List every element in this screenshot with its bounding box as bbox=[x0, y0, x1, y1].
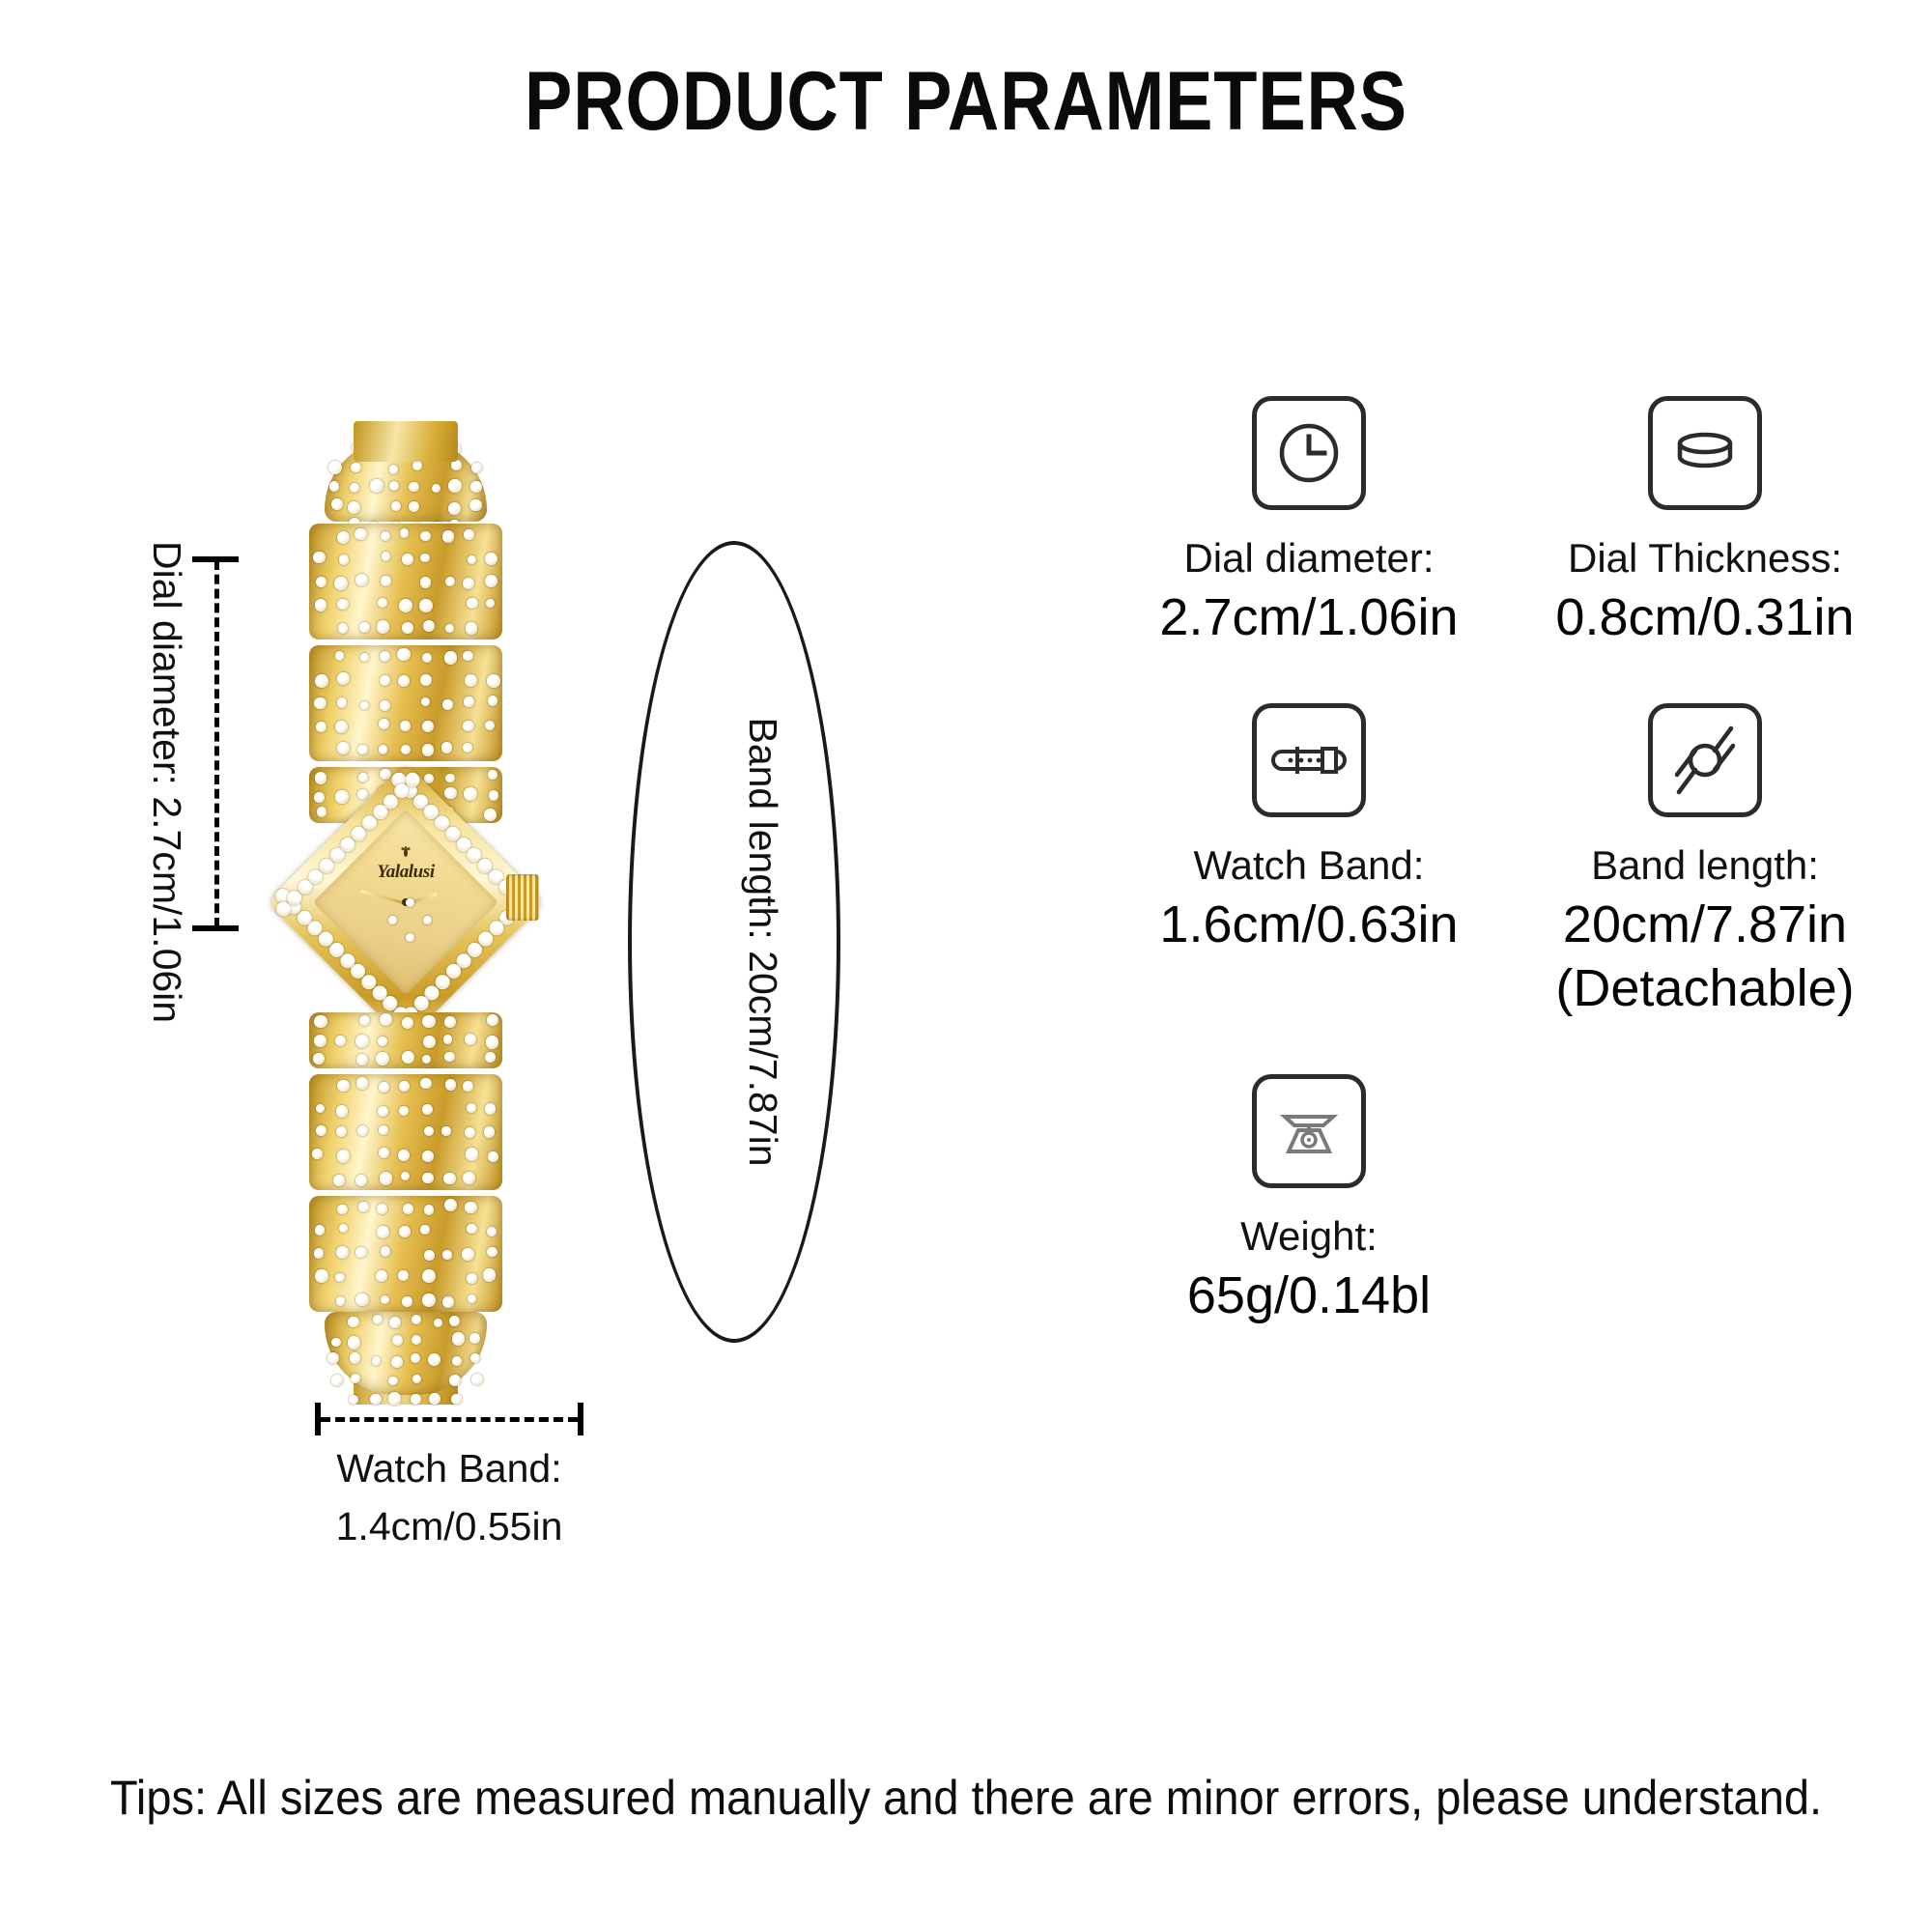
gemstone bbox=[411, 1353, 420, 1363]
gemstone bbox=[467, 1273, 477, 1284]
tips-text: Tips: All sizes are measured manually an… bbox=[58, 1770, 1874, 1826]
gemstone bbox=[327, 1352, 339, 1364]
watch-strap-buckle-icon bbox=[1252, 703, 1366, 817]
gemstone bbox=[465, 674, 477, 687]
gemstone bbox=[315, 1269, 328, 1283]
gemstone bbox=[422, 721, 434, 732]
gemstone bbox=[470, 1353, 480, 1363]
gemstone bbox=[463, 1081, 472, 1091]
gemstone bbox=[355, 574, 368, 586]
gemstone bbox=[444, 1199, 457, 1211]
gemstone bbox=[401, 1172, 410, 1180]
gemstone bbox=[422, 1055, 431, 1064]
gemstone bbox=[468, 1294, 476, 1303]
gemstone bbox=[448, 502, 461, 515]
gemstone bbox=[469, 499, 482, 512]
gemstone bbox=[399, 599, 412, 612]
band-length-annotation-label: Band length: bbox=[741, 717, 785, 939]
dial-diameter-annotation-value: 2.7cm/1.06in bbox=[145, 796, 189, 1023]
gemstone bbox=[420, 1225, 430, 1235]
gemstone bbox=[337, 742, 350, 754]
band-length-annotation: Band length: 20cm/7.87in bbox=[628, 541, 840, 1343]
gemstone bbox=[336, 1126, 348, 1138]
gemstone bbox=[360, 701, 369, 710]
gemstone bbox=[355, 1247, 367, 1259]
gemstone bbox=[315, 772, 327, 784]
gemstone bbox=[400, 721, 411, 731]
gemstone bbox=[312, 1149, 323, 1159]
gemstone bbox=[465, 1034, 476, 1045]
gemstone bbox=[423, 1036, 436, 1048]
spec-note: (Detachable) bbox=[1507, 956, 1903, 1020]
gemstone bbox=[422, 744, 434, 755]
gemstone bbox=[337, 599, 348, 610]
gemstone bbox=[469, 1333, 480, 1344]
gemstone bbox=[337, 1205, 348, 1215]
gemstone bbox=[337, 531, 350, 544]
gemstone bbox=[471, 1374, 483, 1385]
gemstone bbox=[357, 789, 368, 800]
gemstone bbox=[484, 809, 497, 821]
dial-diameter-annotation-label: Dial diameter: bbox=[145, 541, 189, 785]
gemstone bbox=[379, 1082, 389, 1093]
spec-value: 65g/0.14bl bbox=[1111, 1264, 1507, 1327]
gemstone bbox=[376, 1270, 387, 1282]
gemstone bbox=[399, 1226, 411, 1237]
gemstone bbox=[380, 651, 390, 662]
watch-dial: Yalalusi bbox=[313, 810, 498, 995]
gemstone bbox=[358, 773, 369, 783]
gemstone bbox=[380, 1172, 392, 1184]
gemstone bbox=[412, 1375, 422, 1384]
weighing-scale-icon bbox=[1252, 1074, 1366, 1188]
gemstone bbox=[389, 481, 399, 491]
gemstone bbox=[355, 528, 367, 541]
gemstone bbox=[328, 461, 342, 474]
gemstone bbox=[350, 483, 359, 493]
gemstone bbox=[442, 1296, 454, 1308]
gemstone bbox=[334, 577, 348, 590]
gemstone bbox=[484, 1126, 496, 1138]
gemstone bbox=[337, 672, 350, 685]
gemstone bbox=[372, 1356, 382, 1366]
gemstone bbox=[443, 1173, 455, 1184]
band-segment bbox=[309, 645, 502, 761]
gemstone bbox=[389, 1317, 401, 1328]
gemstone bbox=[424, 1205, 434, 1214]
band-segment bbox=[309, 1012, 502, 1068]
gemstone bbox=[487, 674, 499, 687]
gemstone bbox=[398, 1270, 409, 1281]
gemstone bbox=[402, 622, 414, 635]
gemstone bbox=[467, 1224, 477, 1235]
gemstone bbox=[337, 1080, 349, 1092]
gemstone bbox=[464, 529, 474, 540]
gemstone bbox=[316, 1125, 327, 1136]
gemstone bbox=[420, 531, 430, 541]
band-segment bbox=[309, 524, 502, 639]
gemstone bbox=[339, 1224, 348, 1233]
gemstone bbox=[471, 463, 482, 473]
gemstone bbox=[359, 622, 370, 633]
gemstone bbox=[409, 501, 419, 512]
gemstone bbox=[401, 745, 411, 754]
gemstone bbox=[449, 1316, 460, 1326]
spec-row: Watch Band: 1.6cm/0.63in Band length: 20… bbox=[1111, 703, 1903, 1074]
gemstone bbox=[391, 1356, 403, 1368]
gemstone bbox=[348, 1336, 361, 1350]
gemstone bbox=[357, 1125, 368, 1136]
gemstone bbox=[392, 1335, 403, 1346]
gemstone bbox=[445, 577, 455, 586]
gemstone bbox=[470, 481, 482, 493]
gemstone bbox=[441, 1126, 450, 1135]
spec-item-watch-band: Watch Band: 1.6cm/0.63in bbox=[1111, 703, 1507, 1074]
gemstone bbox=[355, 1175, 367, 1186]
gemstone bbox=[314, 697, 326, 709]
clock-icon bbox=[1252, 396, 1366, 510]
gemstone bbox=[466, 622, 478, 635]
page-title: PRODUCT PARAMETERS bbox=[135, 54, 1797, 150]
gemstone bbox=[488, 770, 497, 779]
band-lug-top bbox=[354, 421, 458, 462]
gemstone bbox=[316, 577, 327, 587]
gemstone bbox=[338, 623, 349, 634]
gemstone bbox=[444, 651, 458, 665]
spec-cell-empty bbox=[1507, 1074, 1903, 1381]
gemstone bbox=[412, 1335, 422, 1346]
gemstone bbox=[468, 555, 476, 564]
gemstone bbox=[463, 1172, 476, 1185]
spec-item-dial-thickness: Dial Thickness: 0.8cm/0.31in bbox=[1507, 396, 1903, 703]
gemstone bbox=[356, 1054, 368, 1065]
gemstone bbox=[485, 721, 495, 730]
gemstone bbox=[485, 575, 497, 587]
gemstone bbox=[399, 1106, 409, 1116]
dimension-cap-right bbox=[578, 1403, 583, 1435]
band-segment bbox=[309, 1196, 502, 1312]
watch-band-annotation-label: Watch Band: bbox=[290, 1439, 609, 1497]
dimension-line-vertical bbox=[214, 560, 219, 927]
band-segment bbox=[309, 1074, 502, 1190]
band-segment-bottom-cap bbox=[325, 1312, 487, 1395]
gemstone bbox=[359, 1015, 370, 1026]
gemstone bbox=[412, 1315, 421, 1324]
gemstone bbox=[376, 1052, 389, 1065]
gemstone bbox=[381, 1246, 390, 1256]
gemstone bbox=[422, 1151, 434, 1162]
gemstone bbox=[412, 461, 422, 470]
gemstone bbox=[486, 599, 495, 608]
gemstone bbox=[391, 501, 401, 511]
gemstone bbox=[442, 1250, 451, 1259]
gemstone bbox=[351, 1374, 360, 1383]
gemstone bbox=[424, 1126, 434, 1136]
gemstone bbox=[422, 1104, 433, 1115]
gemstone bbox=[337, 697, 347, 707]
gemstone bbox=[485, 553, 497, 565]
gemstone bbox=[448, 479, 462, 493]
gemstone bbox=[443, 1035, 452, 1043]
gemstone bbox=[445, 1079, 457, 1091]
gemstone bbox=[428, 1353, 440, 1366]
gemstone bbox=[316, 722, 327, 732]
gemstone bbox=[399, 1081, 410, 1092]
gemstone bbox=[424, 1250, 434, 1260]
gemstone bbox=[335, 1273, 344, 1282]
gemstone bbox=[314, 1035, 327, 1047]
dimension-cap-bottom bbox=[192, 925, 239, 931]
gemstone bbox=[379, 719, 388, 728]
gemstone bbox=[483, 1268, 497, 1282]
gemstone bbox=[442, 699, 453, 710]
gemstone bbox=[467, 1103, 476, 1113]
gemstone bbox=[444, 1052, 455, 1063]
gemstone bbox=[420, 674, 432, 686]
gemstone bbox=[388, 1377, 398, 1386]
gemstone bbox=[445, 774, 454, 782]
gemstone bbox=[485, 1103, 497, 1115]
gemstone bbox=[329, 481, 339, 491]
gemstone bbox=[487, 1227, 497, 1237]
gemstone bbox=[380, 1013, 392, 1026]
dial-index-gemstone bbox=[406, 898, 414, 907]
gemstone bbox=[315, 599, 327, 611]
gemstone bbox=[378, 598, 387, 608]
gemstone bbox=[419, 599, 433, 612]
gemstone bbox=[420, 1078, 431, 1089]
gemstone bbox=[463, 578, 474, 589]
gemstone bbox=[464, 696, 473, 706]
gemstone bbox=[331, 1375, 343, 1386]
spec-label: Dial Thickness: bbox=[1507, 531, 1903, 585]
minute-hand bbox=[360, 890, 406, 905]
gemstone bbox=[336, 1246, 349, 1259]
gemstone bbox=[444, 1016, 456, 1028]
brand-logo-text: Yalalusi bbox=[340, 862, 471, 883]
gemstone bbox=[336, 1105, 349, 1118]
gemstone bbox=[316, 1104, 325, 1113]
gemstone bbox=[442, 530, 454, 542]
gemstone bbox=[377, 620, 390, 634]
gemstone bbox=[420, 554, 430, 563]
gemstone bbox=[452, 1332, 466, 1346]
spec-label: Watch Band: bbox=[1111, 838, 1507, 893]
gemstone bbox=[432, 484, 440, 493]
gemstone bbox=[331, 1338, 340, 1347]
gemstone bbox=[398, 675, 410, 687]
spec-value: 20cm/7.87in bbox=[1507, 893, 1903, 956]
gemstone bbox=[486, 1036, 498, 1048]
gemstone bbox=[485, 1052, 496, 1063]
spec-grid: Dial diameter: 2.7cm/1.06in Dial Thickne… bbox=[1111, 396, 1903, 1381]
gemstone bbox=[463, 651, 473, 662]
gemstone bbox=[463, 743, 472, 753]
gemstone bbox=[381, 531, 390, 541]
gemstone bbox=[420, 577, 432, 588]
spec-label: Weight: bbox=[1111, 1209, 1507, 1264]
gemstone bbox=[370, 479, 384, 493]
gemstone bbox=[336, 1296, 345, 1305]
gemstone bbox=[377, 1204, 387, 1214]
gemstone bbox=[400, 528, 410, 538]
gemstone bbox=[422, 1015, 436, 1029]
gemstone bbox=[402, 1051, 414, 1064]
gemstone bbox=[449, 1375, 462, 1387]
gemstone bbox=[313, 552, 325, 563]
gemstone bbox=[397, 648, 410, 661]
gemstone bbox=[351, 463, 361, 473]
gemstone bbox=[348, 501, 360, 514]
gemstone bbox=[402, 1296, 412, 1307]
gemstone bbox=[402, 1017, 413, 1029]
gemstone bbox=[465, 1202, 477, 1214]
gemstone bbox=[313, 1053, 325, 1065]
gemstone bbox=[373, 1315, 383, 1324]
gemstone bbox=[381, 1295, 390, 1305]
dial-index-gemstone bbox=[388, 916, 397, 924]
dial-face-inner: Yalalusi bbox=[340, 837, 471, 968]
gemstone bbox=[314, 1015, 327, 1029]
gemstone bbox=[380, 700, 390, 711]
gemstone bbox=[314, 1248, 325, 1259]
gemstone bbox=[434, 1319, 442, 1327]
gemstone bbox=[441, 742, 453, 753]
spec-item-weight: Weight: 65g/0.14bl bbox=[1111, 1074, 1507, 1381]
watch-band-annotation-value: 1.4cm/0.55in bbox=[290, 1497, 609, 1555]
gemstone bbox=[377, 1226, 389, 1238]
gemstone bbox=[487, 1247, 497, 1257]
dimension-line-horizontal bbox=[290, 1401, 609, 1439]
spec-value: 2.7cm/1.06in bbox=[1111, 585, 1507, 649]
dial-index-gemstone bbox=[423, 916, 432, 924]
gemstone bbox=[339, 554, 349, 564]
gemstone bbox=[335, 790, 348, 803]
dial-diameter-annotation-text: Dial diameter: 2.7cm/1.06in bbox=[71, 541, 197, 947]
gemstone bbox=[487, 1014, 498, 1026]
gemstone bbox=[422, 1173, 434, 1184]
gemstone bbox=[421, 697, 430, 706]
dimension-dashes bbox=[321, 1417, 578, 1422]
gemstone bbox=[379, 1148, 389, 1158]
disc-thickness-icon bbox=[1648, 396, 1762, 510]
gemstone bbox=[314, 792, 325, 803]
gemstone bbox=[445, 624, 454, 633]
gemstone bbox=[358, 1202, 369, 1212]
gemstone bbox=[379, 1125, 387, 1134]
gemstone bbox=[465, 1127, 475, 1138]
gemstone bbox=[488, 696, 497, 705]
band-length-icon bbox=[1648, 703, 1762, 817]
gemstone bbox=[467, 598, 478, 610]
gemstone bbox=[463, 721, 474, 732]
gemstone bbox=[389, 465, 399, 474]
gemstone bbox=[337, 1150, 351, 1163]
gemstone bbox=[422, 653, 432, 663]
watch-crown bbox=[506, 874, 539, 921]
gemstone bbox=[360, 653, 369, 662]
bee-icon bbox=[398, 844, 413, 860]
spec-label: Dial diameter: bbox=[1111, 531, 1507, 585]
dial-index-gemstone bbox=[406, 933, 414, 942]
spec-label: Band length: bbox=[1507, 838, 1903, 893]
spec-row: Dial diameter: 2.7cm/1.06in Dial Thickne… bbox=[1111, 396, 1903, 703]
spec-item-dial-diameter: Dial diameter: 2.7cm/1.06in bbox=[1111, 396, 1507, 703]
gemstone bbox=[403, 1204, 413, 1214]
gemstone bbox=[350, 1352, 360, 1363]
gemstone bbox=[452, 1356, 462, 1366]
gemstone bbox=[357, 745, 368, 755]
gemstone bbox=[355, 1035, 369, 1048]
gemstone bbox=[315, 674, 328, 688]
spec-item-band-length: Band length: 20cm/7.87in (Detachable) bbox=[1507, 703, 1903, 1074]
gemstone bbox=[462, 1248, 474, 1261]
spec-row: Weight: 65g/0.14bl bbox=[1111, 1074, 1903, 1381]
gemstone bbox=[402, 554, 413, 565]
gemstone bbox=[315, 1225, 325, 1235]
gemstone bbox=[382, 552, 390, 560]
gemstone bbox=[333, 1175, 345, 1186]
spec-value: 1.6cm/0.63in bbox=[1111, 893, 1507, 956]
gemstone bbox=[335, 1036, 346, 1046]
gemstone bbox=[348, 1317, 359, 1328]
watch-band-width-annotation: Watch Band: 1.4cm/0.55in bbox=[290, 1401, 609, 1555]
gemstone bbox=[356, 1077, 369, 1090]
gemstone bbox=[488, 1151, 498, 1162]
gemstone bbox=[355, 1293, 369, 1307]
gemstone bbox=[378, 1106, 388, 1117]
gemstone bbox=[423, 620, 435, 632]
product-parameters-page: PRODUCT PARAMETERS Dial diameter: 2.7cm/… bbox=[0, 0, 1932, 1932]
gemstone bbox=[379, 745, 388, 754]
band-length-annotation-value: 20cm/7.87in bbox=[741, 951, 785, 1166]
gemstone bbox=[444, 787, 457, 800]
gemstone bbox=[466, 1148, 478, 1160]
gemstone bbox=[422, 1293, 436, 1307]
gemstone bbox=[464, 787, 477, 801]
gemstone bbox=[335, 721, 348, 733]
gemstone bbox=[331, 498, 343, 510]
gemstone bbox=[335, 651, 345, 661]
gemstone bbox=[422, 1269, 436, 1283]
gemstone bbox=[378, 1037, 387, 1046]
gemstone bbox=[380, 675, 390, 686]
gemstone bbox=[409, 482, 419, 493]
gemstone bbox=[489, 790, 498, 800]
dial-diameter-annotation: Dial diameter: 2.7cm/1.06in bbox=[71, 541, 255, 947]
gemstone bbox=[398, 1150, 410, 1161]
spec-value: 0.8cm/0.31in bbox=[1507, 585, 1903, 649]
gemstone bbox=[381, 576, 392, 587]
watch-product-image: Yalalusi bbox=[290, 435, 599, 1401]
gemstone bbox=[317, 807, 327, 817]
band-length-annotation-text: Band length: 20cm/7.87in bbox=[676, 671, 792, 1212]
